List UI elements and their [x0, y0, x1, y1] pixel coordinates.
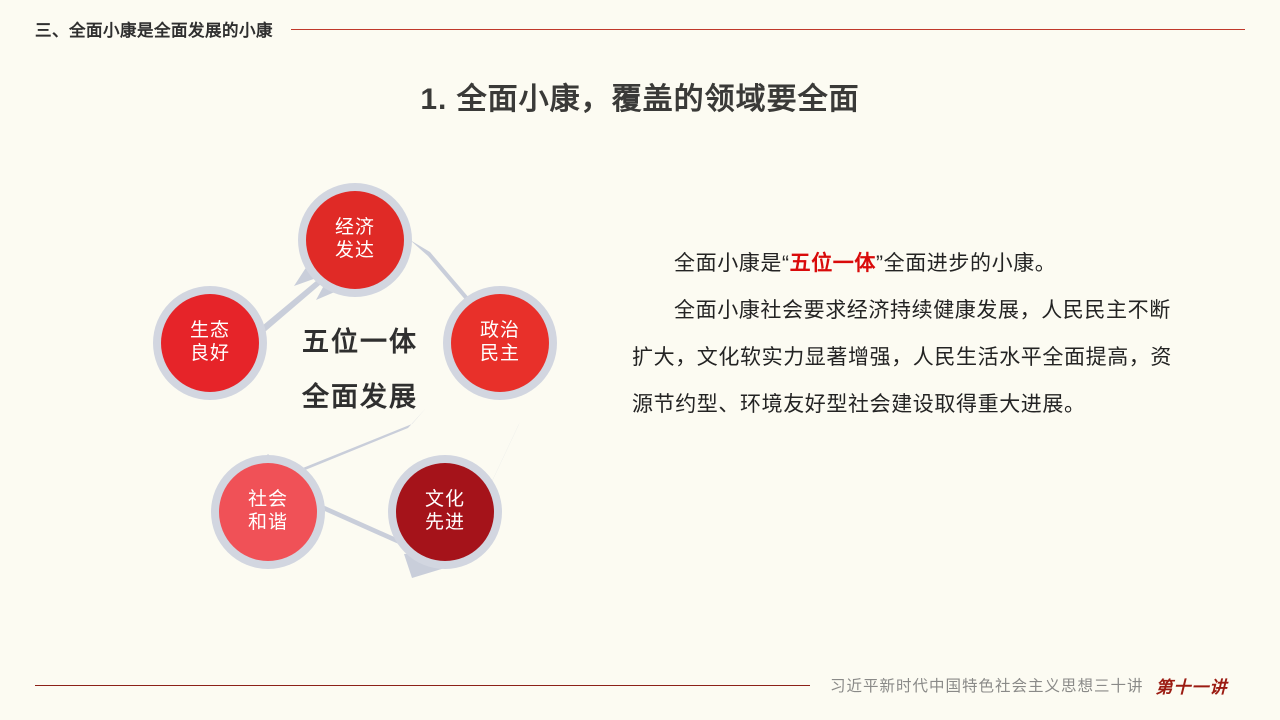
node-economy[interactable]	[298, 183, 412, 297]
diagram-center-line1: 五位一体	[260, 320, 460, 359]
node-politics-disc	[451, 294, 549, 392]
body-paragraph-1: 全面小康是“五位一体”全面进步的小康。	[632, 240, 1172, 287]
section-label: 三、全面小康是全面发展的小康	[35, 17, 273, 41]
node-society-disc	[219, 463, 317, 561]
footer-series-title: 习近平新时代中国特色社会主义思想三十讲	[830, 674, 1144, 696]
diagram-center-line2: 全面发展	[260, 375, 460, 414]
node-economy-disc	[306, 191, 404, 289]
header-divider-line	[291, 29, 1245, 30]
node-ecology[interactable]	[153, 286, 267, 400]
node-culture[interactable]	[388, 455, 502, 569]
body-text-block: 全面小康是“五位一体”全面进步的小康。 全面小康社会要求经济持续健康发展，人民民…	[632, 240, 1172, 428]
slide-root: 三、全面小康是全面发展的小康 1. 全面小康，覆盖的领域要全面	[0, 0, 1280, 720]
paragraph1-post: ”全面进步的小康。	[876, 252, 1056, 275]
paragraph1-highlight: 五位一体	[790, 252, 876, 275]
slide-footer: 习近平新时代中国特色社会主义思想三十讲 第十一讲	[0, 668, 1280, 702]
node-society[interactable]	[211, 455, 325, 569]
five-in-one-diagram: 经济 发达 政治 民主 文化 先进 社会 和谐 生态 良好 五位一体 全面发展	[140, 160, 580, 600]
body-paragraph-2: 全面小康社会要求经济持续健康发展，人民民主不断扩大，文化软实力显著增强，人民生活…	[632, 287, 1172, 428]
footer-lecture-badge: 第十一讲	[1156, 673, 1228, 698]
page-title: 1. 全面小康，覆盖的领域要全面	[0, 74, 1280, 118]
paragraph1-pre: 全面小康是“	[674, 252, 790, 275]
slide-header: 三、全面小康是全面发展的小康	[0, 12, 1280, 46]
node-culture-disc	[396, 463, 494, 561]
node-ecology-disc	[161, 294, 259, 392]
node-politics[interactable]	[443, 286, 557, 400]
footer-divider-line	[35, 685, 810, 686]
